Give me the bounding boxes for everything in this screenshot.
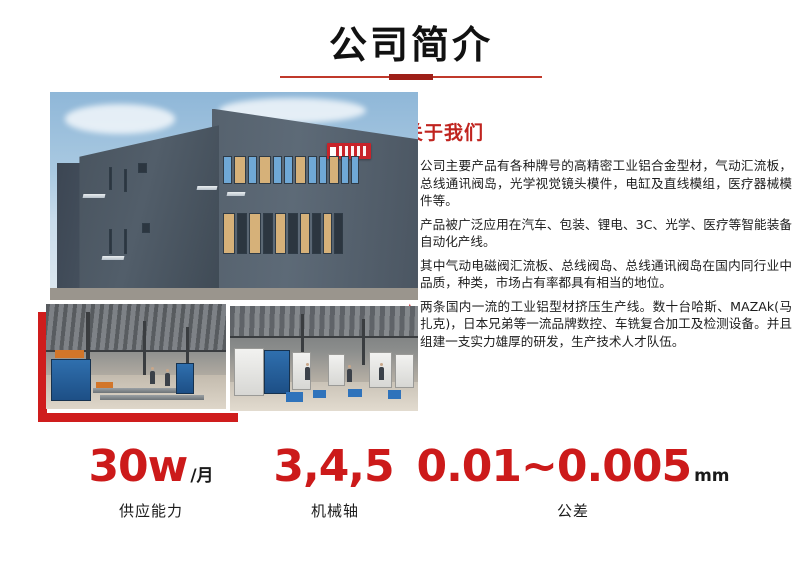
orange-gantry [55,350,84,357]
slit-window [142,223,150,233]
hall-roof-trusses [230,306,418,338]
blue-machine [176,363,194,395]
conveyor-rail [100,395,204,400]
stat-value-row: 0.01~0.005 mm [408,442,738,492]
stat-supply-capacity: 30w /月 供应能力 [36,442,266,521]
building-right-wing [212,109,418,300]
window-band-lower [223,213,407,255]
stat-unit: mm [694,466,729,486]
bullet-text: 产品被广泛应用在汽车、包装、锂电、3C、光学、医疗等智能装备自动化产线。 [420,216,792,251]
cloud-shape [65,104,175,133]
slit-window [124,229,127,254]
about-us-section: 关于我们 ★ 公司主要产品有各种牌号的高精密工业铝合金型材，气动汇流板，总线通讯… [404,118,792,356]
stat-label: 供应能力 [36,500,266,521]
worker-figure [165,373,170,386]
about-bullet-list: ★ 公司主要产品有各种牌号的高精密工业铝合金型材，气动汇流板，总线通讯阀岛，光学… [404,157,792,350]
orange-cart [96,382,112,388]
worker-figure [379,367,384,380]
blue-crate [388,390,401,399]
cnc-machine [234,348,264,396]
bullet-text: 公司主要产品有各种牌号的高精密工业铝合金型材，气动汇流板，总线通讯阀岛，光学视觉… [420,157,792,210]
photo-collage [38,92,418,422]
key-stats-row: 30w /月 供应能力 3,4,5 机械轴 0.01~0.005 mm 公差 [0,442,800,552]
about-us-heading: 关于我们 [404,118,792,145]
window-awning [197,186,218,190]
worker-figure [150,371,155,384]
cnc-machine [395,354,414,388]
cnc-machine [328,354,345,386]
slit-window [138,163,147,173]
blue-crate [313,390,326,398]
blue-press-machine [51,359,91,401]
ground-plane [50,288,418,300]
company-profile-page: 公司简介 [0,0,800,573]
list-item: ★ 两条国内一流的工业铝型材挤压生产线。数十台哈斯、MAZAk(马扎克)，日本兄… [404,298,792,351]
bullet-text: 两条国内一流的工业铝型材挤压生产线。数十台哈斯、MAZAk(马扎克)，日本兄弟等… [420,298,792,351]
photo-extrusion-workshop [46,304,226,409]
support-column [362,319,365,365]
list-item: ★ 其中气动电磁阀汇流板、总线阀岛、总线通讯阀岛在国内同行业中品质，种类，市场占… [404,257,792,292]
cnc-machine-blue [264,350,290,394]
stat-value-row: 30w /月 [36,442,266,492]
window-awning [101,256,124,260]
slit-window [124,169,127,192]
stat-machine-axes: 3,4,5 机械轴 [250,442,420,521]
list-item: ★ 产品被广泛应用在汽车、包装、锂电、3C、光学、医疗等智能装备自动化产线。 [404,216,792,251]
photo-office-building [50,92,418,300]
blue-crate [286,392,303,401]
stat-unit: /月 [190,461,213,486]
blue-crate [348,389,361,397]
list-item: ★ 公司主要产品有各种牌号的高精密工业铝合金型材，气动汇流板，总线通讯阀岛，光学… [404,157,792,210]
window-awning [83,194,106,198]
title-underline-accent [389,74,433,80]
page-title-block: 公司简介 [280,22,542,78]
stat-value: 30w [88,442,187,492]
window-band-upper [223,156,407,183]
window-awning [226,192,245,196]
title-underline [280,76,542,78]
worker-figure [305,367,310,380]
stat-label: 公差 [408,500,738,521]
worker-figure [347,369,352,382]
photo-cnc-workshop [230,306,418,411]
roof-girder [230,336,418,338]
slit-window [109,167,112,190]
building-sign-lettering [339,146,369,155]
slit-window [109,229,112,254]
stat-value: 3,4,5 [273,442,393,492]
support-column [143,321,146,376]
bullet-text: 其中气动电磁阀汇流板、总线阀岛、总线通讯阀岛在国内同行业中品质，种类，市场占有率… [420,257,792,292]
stat-label: 机械轴 [250,500,420,521]
stat-value: 0.01~0.005 [416,442,691,492]
stat-tolerance: 0.01~0.005 mm 公差 [408,442,738,521]
stat-value-row: 3,4,5 [250,442,420,492]
page-title: 公司简介 [280,22,542,68]
hall-roof-trusses [46,304,226,352]
